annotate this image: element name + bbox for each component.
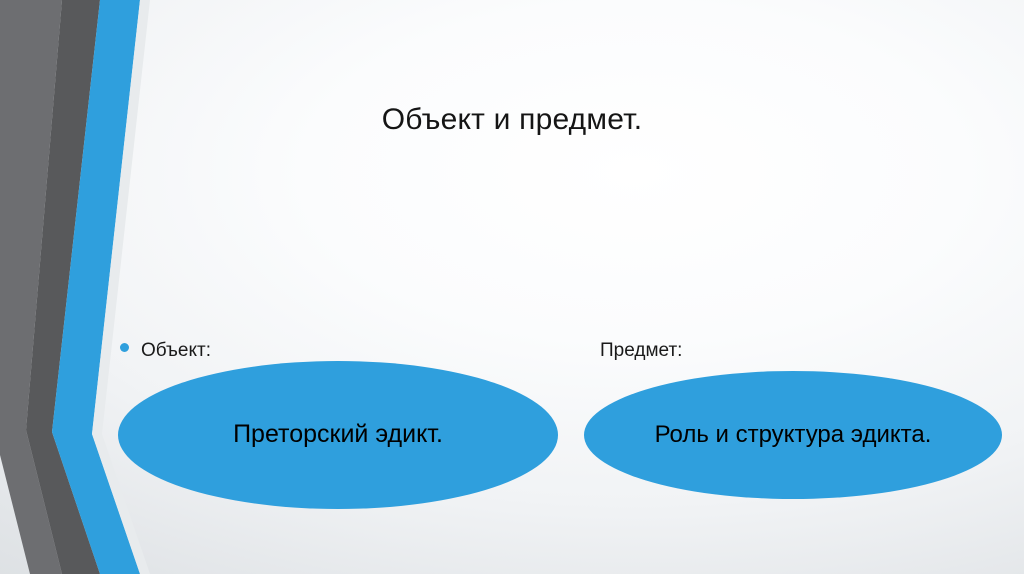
slide-canvas: Объект и предмет. Объект: Предмет: Прето… [0, 0, 1024, 574]
label-subject: Предмет: [600, 340, 682, 362]
object-ellipse-text: Преторский эдикт. [207, 419, 469, 450]
page-title: Объект и предмет. [0, 103, 1024, 137]
bullet-dot-icon [120, 343, 129, 352]
bullet-object-label: Объект: [141, 340, 211, 362]
subject-ellipse: Роль и структура эдикта. [584, 371, 1002, 499]
bullet-object: Объект: [120, 340, 211, 362]
object-ellipse: Преторский эдикт. [118, 361, 558, 509]
decorative-chevron-ribbon [0, 0, 210, 574]
subject-ellipse-text: Роль и структура эдикта. [619, 420, 968, 450]
